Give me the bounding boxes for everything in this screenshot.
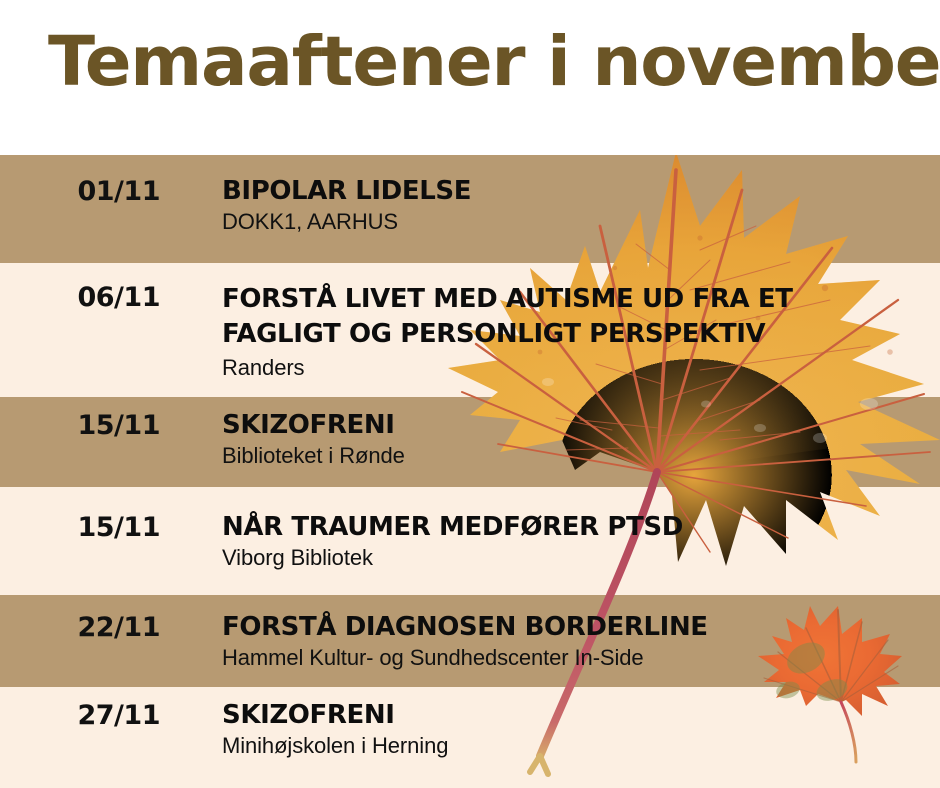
event-title: FORSTÅ LIVET MED AUTISME UD FRA ET FAGLI… <box>222 282 922 352</box>
event-title: SKIZOFRENI <box>222 700 922 730</box>
event-title: NÅR TRAUMER MEDFØRER PTSD <box>222 512 922 542</box>
event-date: 27/11 <box>20 700 160 731</box>
event-body: NÅR TRAUMER MEDFØRER PTSD Viborg Bibliot… <box>222 512 922 572</box>
event-title: BIPOLAR LIDELSE <box>222 176 922 206</box>
event-title: SKIZOFRENI <box>222 410 922 440</box>
event-venue: Viborg Bibliotek <box>222 545 922 571</box>
event-venue: Minihøjskolen i Herning <box>222 733 922 759</box>
event-venue: Randers <box>222 355 922 381</box>
title-area: Temaaftener i november <box>0 0 940 155</box>
event-body: FORSTÅ LIVET MED AUTISME UD FRA ET FAGLI… <box>222 282 922 382</box>
event-venue: Hammel Kultur- og Sundhedscenter In-Side <box>222 645 922 671</box>
event-body: BIPOLAR LIDELSE DOKK1, AARHUS <box>222 176 922 236</box>
event-date: 15/11 <box>20 512 160 543</box>
event-venue: Biblioteket i Rønde <box>222 443 922 469</box>
event-date: 22/11 <box>20 612 160 643</box>
event-venue: DOKK1, AARHUS <box>222 209 922 235</box>
event-body: SKIZOFRENI Minihøjskolen i Herning <box>222 700 922 760</box>
page-title: Temaaftener i november <box>48 28 940 97</box>
poster-canvas: Temaaftener i november 01/11 BIPOLAR LID… <box>0 0 940 788</box>
event-title: FORSTÅ DIAGNOSEN BORDERLINE <box>222 612 922 642</box>
event-body: FORSTÅ DIAGNOSEN BORDERLINE Hammel Kultu… <box>222 612 922 672</box>
event-body: SKIZOFRENI Biblioteket i Rønde <box>222 410 922 470</box>
event-date: 06/11 <box>20 282 160 313</box>
event-date: 15/11 <box>20 410 160 441</box>
event-date: 01/11 <box>20 176 160 207</box>
